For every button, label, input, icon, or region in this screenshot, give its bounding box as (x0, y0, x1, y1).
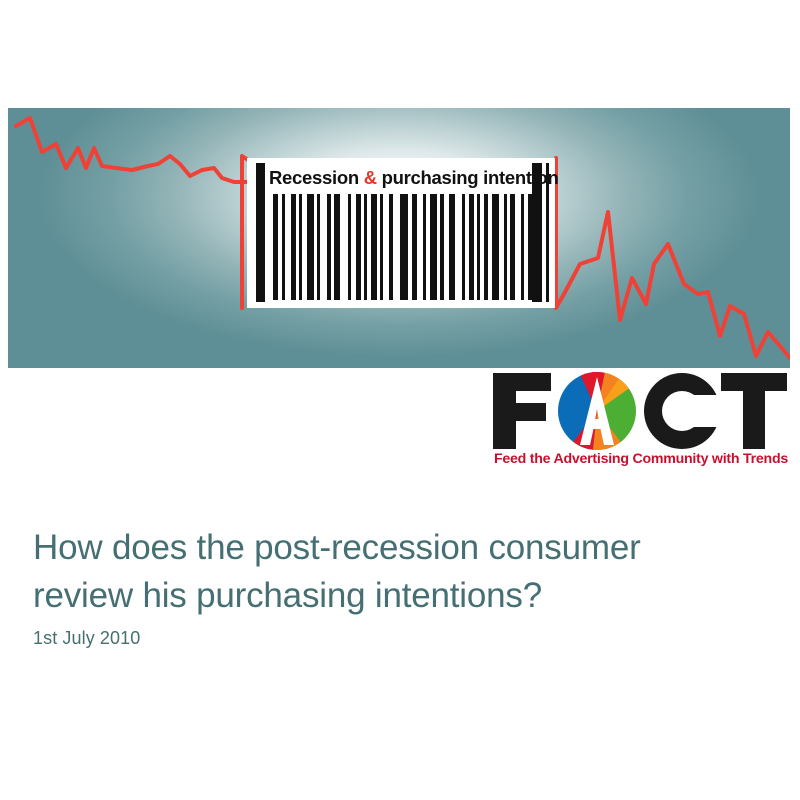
trend-line-right (564, 212, 790, 358)
barcode-graphic: Recession & purchasing intention (247, 158, 555, 308)
logo-tagline: Feed the Advertising Community with Tren… (491, 451, 791, 467)
fact-logo: Feed the Advertising Community with Tren… (489, 369, 791, 477)
page-title-line-2: review his purchasing intentions? (33, 572, 753, 620)
logo-letter-f (493, 373, 551, 449)
fact-wordmark (489, 369, 791, 451)
barcode-guard-right-thin (546, 163, 549, 302)
barcode-guard-right (532, 163, 542, 302)
logo-letter-t (721, 373, 787, 449)
hero-banner: Recession & purchasing intention (8, 108, 790, 368)
slide-date: 1st July 2010 (33, 628, 140, 649)
page-title: How does the post-recession consumer rev… (33, 524, 753, 620)
barcode-title: Recession & purchasing intention (269, 165, 525, 191)
barcode-bars (255, 194, 549, 300)
barcode-title-prefix: Recession (269, 167, 364, 188)
logo-letter-a (558, 372, 636, 450)
title-slide: Recession & purchasing intention (0, 0, 800, 800)
trend-line-left (16, 118, 252, 182)
page-title-line-1: How does the post-recession consumer (33, 528, 641, 567)
barcode-title-ampersand: & (364, 167, 377, 188)
